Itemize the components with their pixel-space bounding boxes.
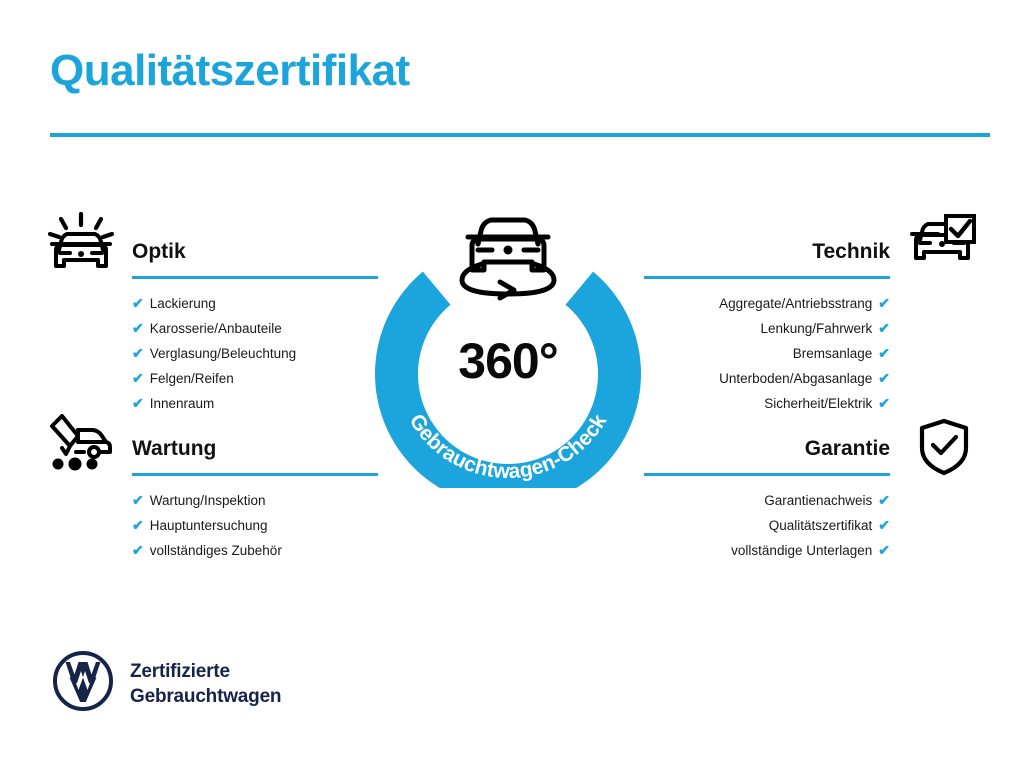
checklist-optik: ✔ Lackierung ✔ Karosserie/Anbauteile ✔ V…: [132, 291, 378, 416]
section-header: Technik: [644, 237, 890, 283]
list-item: Sicherheit/Elektrik ✔: [644, 391, 890, 416]
list-item-label: vollständiges Zubehör: [150, 539, 282, 563]
checklist-technik: Aggregate/Antriebsstrang ✔ Lenkung/Fahrw…: [644, 291, 890, 416]
list-item-label: Lenkung/Fahrwerk: [760, 317, 872, 341]
section-title: Wartung: [132, 434, 378, 464]
check-icon: ✔: [878, 488, 890, 512]
shield-check-icon: [918, 418, 970, 481]
list-item-label: Lackierung: [150, 292, 216, 316]
check-icon: ✔: [132, 513, 144, 537]
checklist-garantie: Garantienachweis ✔ Qualitätszertifikat ✔…: [644, 488, 890, 563]
check-icon: ✔: [132, 391, 144, 415]
check-icon: ✔: [878, 366, 890, 390]
car-checkbox-icon: [908, 214, 976, 277]
list-item: Garantienachweis ✔: [644, 488, 890, 513]
check-icon: ✔: [878, 316, 890, 340]
list-item: vollständige Unterlagen ✔: [644, 538, 890, 563]
section-garantie: Garantie Garantienachweis ✔ Qualitätszer…: [644, 434, 890, 563]
check-icon: ✔: [132, 316, 144, 340]
check-icon: ✔: [132, 341, 144, 365]
list-item: ✔ Karosserie/Anbauteile: [132, 316, 378, 341]
section-title: Optik: [132, 237, 378, 267]
list-item: Qualitätszertifikat ✔: [644, 513, 890, 538]
checklist-wartung: ✔ Wartung/Inspektion ✔ Hauptuntersuchung…: [132, 488, 378, 563]
list-item-label: Karosserie/Anbauteile: [150, 317, 282, 341]
list-item: ✔ Wartung/Inspektion: [132, 488, 378, 513]
list-item-label: Bremsanlage: [793, 342, 873, 366]
check-icon: ✔: [878, 513, 890, 537]
section-technik: Technik Aggregate/Antriebsstrang ✔ Lenku…: [644, 237, 890, 416]
list-item: ✔ vollständiges Zubehör: [132, 538, 378, 563]
list-item-label: Sicherheit/Elektrik: [764, 392, 872, 416]
volkswagen-logo: [52, 650, 114, 717]
vw-wordmark: Zertifizierte Gebrauchtwagen: [130, 659, 281, 709]
section-title: Technik: [644, 237, 890, 267]
list-item: ✔ Verglasung/Beleuchtung: [132, 341, 378, 366]
badge-value: 360°: [368, 332, 648, 390]
section-header: Wartung: [132, 434, 378, 480]
list-item: ✔ Hauptuntersuchung: [132, 513, 378, 538]
badge-360-check: Gebrauchtwagen-Check 360°: [368, 198, 648, 488]
vw-wordmark-line1: Zertifizierte: [130, 659, 281, 684]
list-item-label: Wartung/Inspektion: [150, 489, 266, 513]
check-icon: ✔: [132, 366, 144, 390]
check-icon: ✔: [132, 538, 144, 562]
section-title: Garantie: [644, 434, 890, 464]
car-shine-icon: [48, 212, 114, 279]
section-optik: Optik ✔ Lackierung ✔ Karosserie/Anbautei…: [132, 237, 378, 416]
section-underline: [132, 276, 378, 279]
check-icon: ✔: [878, 538, 890, 562]
page-title: Qualitätszertifikat: [50, 46, 410, 97]
check-icon: ✔: [132, 488, 144, 512]
vw-wordmark-line2: Gebrauchtwagen: [130, 684, 281, 709]
list-item-label: Hauptuntersuchung: [150, 514, 268, 538]
list-item: ✔ Innenraum: [132, 391, 378, 416]
list-item-label: Verglasung/Beleuchtung: [150, 342, 296, 366]
pen-car-service-icon: [48, 414, 114, 477]
list-item-label: Aggregate/Antriebsstrang: [719, 292, 872, 316]
check-icon: ✔: [878, 341, 890, 365]
list-item-label: vollständige Unterlagen: [731, 539, 872, 563]
list-item-label: Unterboden/Abgasanlage: [719, 367, 872, 391]
check-icon: ✔: [878, 291, 890, 315]
list-item: Lenkung/Fahrwerk ✔: [644, 316, 890, 341]
section-underline: [644, 276, 890, 279]
list-item: ✔ Felgen/Reifen: [132, 366, 378, 391]
check-icon: ✔: [132, 291, 144, 315]
check-icon: ✔: [878, 391, 890, 415]
list-item-label: Felgen/Reifen: [150, 367, 234, 391]
list-item: Unterboden/Abgasanlage ✔: [644, 366, 890, 391]
list-item: Aggregate/Antriebsstrang ✔: [644, 291, 890, 316]
vw-certified-lockup: Zertifizierte Gebrauchtwagen: [52, 650, 281, 717]
section-header: Garantie: [644, 434, 890, 480]
section-wartung: Wartung ✔ Wartung/Inspektion ✔ Hauptunte…: [132, 434, 378, 563]
list-item-label: Garantienachweis: [764, 489, 872, 513]
section-header: Optik: [132, 237, 378, 283]
list-item: ✔ Lackierung: [132, 291, 378, 316]
header-divider: [50, 133, 990, 137]
list-item-label: Qualitätszertifikat: [769, 514, 873, 538]
section-underline: [132, 473, 378, 476]
list-item: Bremsanlage ✔: [644, 341, 890, 366]
section-underline: [644, 473, 890, 476]
list-item-label: Innenraum: [150, 392, 215, 416]
car-rotate-360-icon: [462, 220, 554, 298]
